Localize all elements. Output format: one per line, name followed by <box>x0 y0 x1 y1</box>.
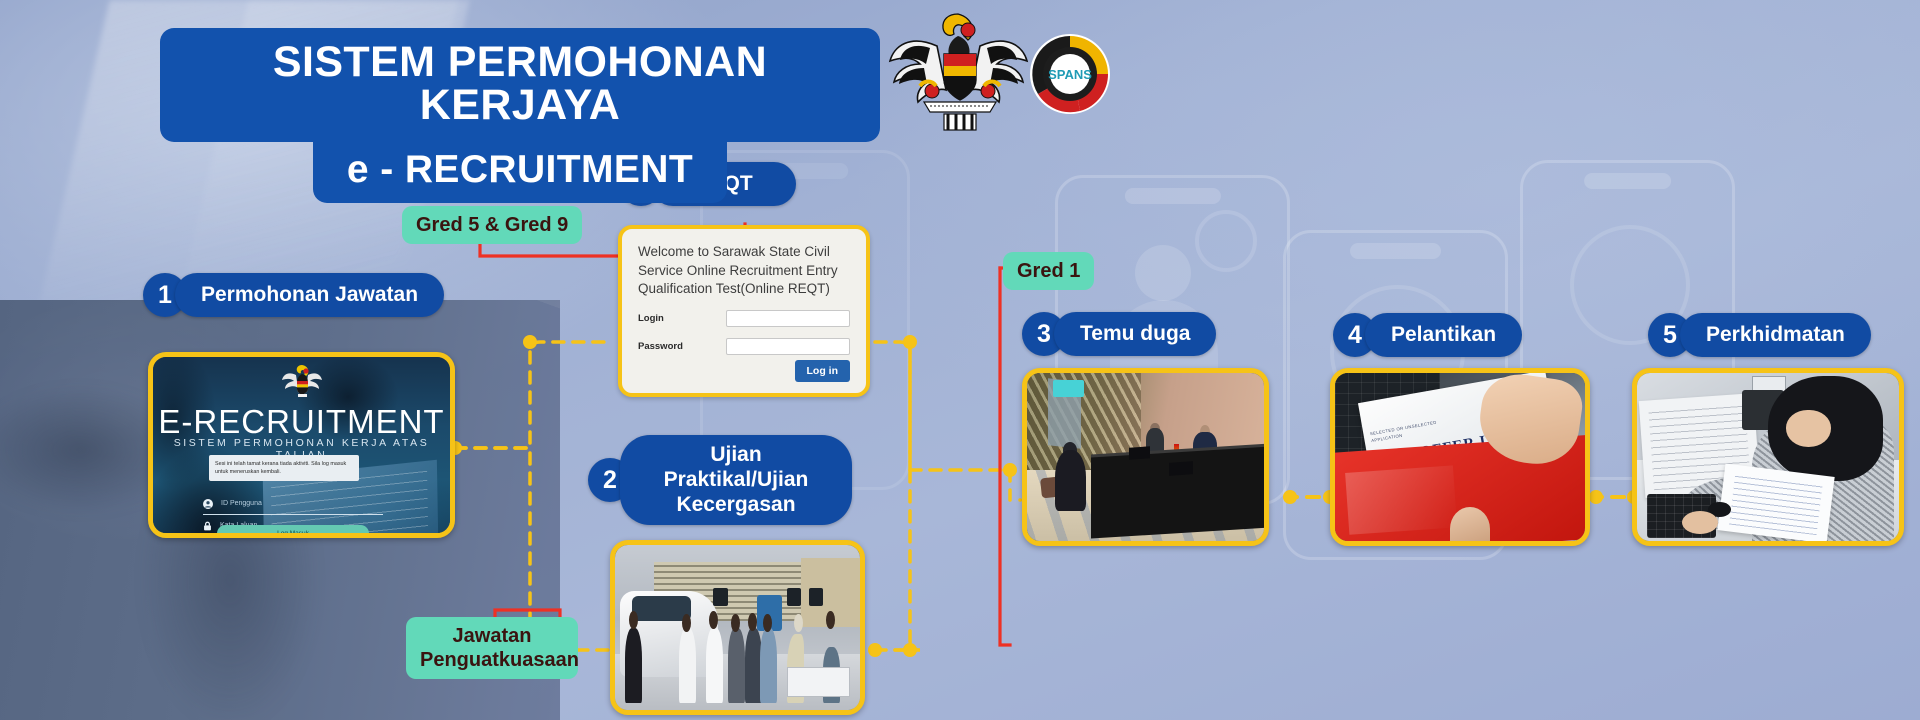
badge-gred-1: Gred 1 <box>1003 252 1094 290</box>
practical-test-photo[interactable] <box>610 540 865 715</box>
lock-icon <box>203 521 212 531</box>
badge-jawatan-line-1: Jawatan <box>453 625 532 647</box>
interview-photo[interactable] <box>1022 368 1269 546</box>
step-1-label: Permohonan Jawatan <box>175 273 444 317</box>
step-4-pelantikan[interactable]: 4 Pelantikan <box>1333 313 1522 357</box>
background-badge-ring-1 <box>1195 210 1257 272</box>
step-1-permohonan-jawatan[interactable]: 1 Permohonan Jawatan <box>143 273 444 317</box>
reqt-welcome-text: Welcome to Sarawak State Civil Service O… <box>638 243 850 299</box>
reqt-login-label: Login <box>638 313 726 324</box>
office-service-photo[interactable] <box>1632 368 1904 546</box>
background-avatar-head-1 <box>1135 245 1191 301</box>
reqt-login-panel[interactable]: Welcome to Sarawak State Civil Service O… <box>618 225 870 397</box>
title-line-1: SISTEM PERMOHONAN KERJAYA <box>160 28 880 142</box>
erecruitment-crest-icon <box>281 363 323 397</box>
step-5-label: Perkhidmatan <box>1680 313 1871 357</box>
erecruitment-screen: E-RECRUITMENT SISTEM PERMOHONAN KERJA AT… <box>153 357 450 533</box>
page-title: SISTEM PERMOHONAN KERJAYA e - RECRUITMEN… <box>160 28 880 203</box>
job-offer-letter-image: SELECTED OR UNSELECTED APPLICATION JOB O… <box>1335 373 1585 541</box>
reqt-password-label: Password <box>638 341 726 352</box>
step-3-temu-duga[interactable]: 3 Temu duga <box>1022 312 1216 356</box>
erecruitment-username-placeholder: ID Pengguna <box>221 500 262 507</box>
office-service-image <box>1637 373 1899 541</box>
erecruitment-login-button[interactable]: Log Masuk <box>217 525 369 538</box>
badge-jawatan-penguatkuasaan: Jawatan Penguatkuasaan <box>406 617 578 679</box>
infographic-canvas: SISTEM PERMOHONAN KERJAYA e - RECRUITMEN… <box>0 0 1920 720</box>
badge-jawatan-line-2: Penguatkuasaan <box>420 649 579 671</box>
erecruitment-session-notice: Sesi ini telah tamat kerana tiada aktivi… <box>209 455 359 481</box>
step-2-ujian-praktikal[interactable]: 2 Ujian Praktikal/Ujian Kecergasan <box>588 435 852 525</box>
logo-group: SPANS <box>880 6 1120 136</box>
spans-logo: SPANS <box>1030 34 1110 114</box>
badge-gred-5-and-9: Gred 5 & Gred 9 <box>402 206 582 244</box>
interview-image <box>1027 373 1264 541</box>
reqt-password-row: Password <box>638 338 850 355</box>
user-icon <box>203 499 213 509</box>
reqt-password-input[interactable] <box>726 338 850 355</box>
sarawak-coat-of-arms <box>890 14 1027 130</box>
step-5-perkhidmatan[interactable]: 5 Perkhidmatan <box>1648 313 1871 357</box>
erecruitment-username-field[interactable]: ID Pengguna <box>203 493 383 515</box>
reqt-login-input[interactable] <box>726 310 850 327</box>
erecruitment-title: E-RECRUITMENT <box>153 403 450 441</box>
job-offer-letter-photo[interactable]: SELECTED OR UNSELECTED APPLICATION JOB O… <box>1330 368 1590 546</box>
reqt-login-row: Login <box>638 310 850 327</box>
spans-logo-text: SPANS <box>1048 67 1092 82</box>
practical-test-image <box>615 545 860 710</box>
step-4-label: Pelantikan <box>1365 313 1522 357</box>
erecruitment-screenshot-card[interactable]: E-RECRUITMENT SISTEM PERMOHONAN KERJA AT… <box>148 352 455 538</box>
title-line-2: e - RECRUITMENT <box>313 139 727 203</box>
step-2-ujian-label: Ujian Praktikal/Ujian Kecergasan <box>620 435 852 525</box>
logos-svg: SPANS <box>880 6 1120 136</box>
reqt-login-submit-button[interactable]: Log in <box>795 360 851 382</box>
step-3-label: Temu duga <box>1054 312 1216 356</box>
